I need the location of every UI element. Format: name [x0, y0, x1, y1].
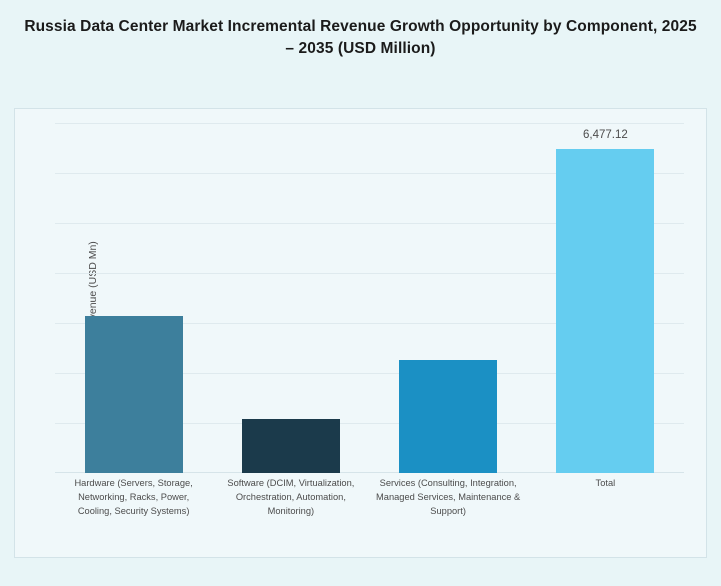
- chart-page: Russia Data Center Market Incremental Re…: [0, 0, 721, 586]
- bar-total[interactable]: 6,477.12: [556, 149, 654, 473]
- bar-slot-hardware: [55, 123, 212, 473]
- bar-slot-total: 6,477.12: [527, 123, 684, 473]
- x-tick-label-hardware: Hardware (Servers, Storage, Networking, …: [55, 477, 212, 519]
- bar-value-total: 6,477.12: [583, 129, 628, 141]
- bar-services[interactable]: [399, 360, 497, 473]
- x-tick-label-services: Services (Consulting, Integration, Manag…: [370, 477, 527, 519]
- plot-area: Revenue (USD Mn): [14, 108, 707, 558]
- bar-software[interactable]: [242, 419, 340, 473]
- x-axis-tick-labels: Hardware (Servers, Storage, Networking, …: [55, 477, 684, 519]
- bar-series: 6,477.12: [55, 123, 684, 473]
- bar-slot-services: [370, 123, 527, 473]
- page-title: Russia Data Center Market Incremental Re…: [18, 16, 703, 61]
- x-tick-label-software: Software (DCIM, Virtualization, Orchestr…: [212, 477, 369, 519]
- bar-slot-software: [212, 123, 369, 473]
- x-tick-label-total: Total: [527, 477, 684, 491]
- bar-hardware[interactable]: [85, 316, 183, 473]
